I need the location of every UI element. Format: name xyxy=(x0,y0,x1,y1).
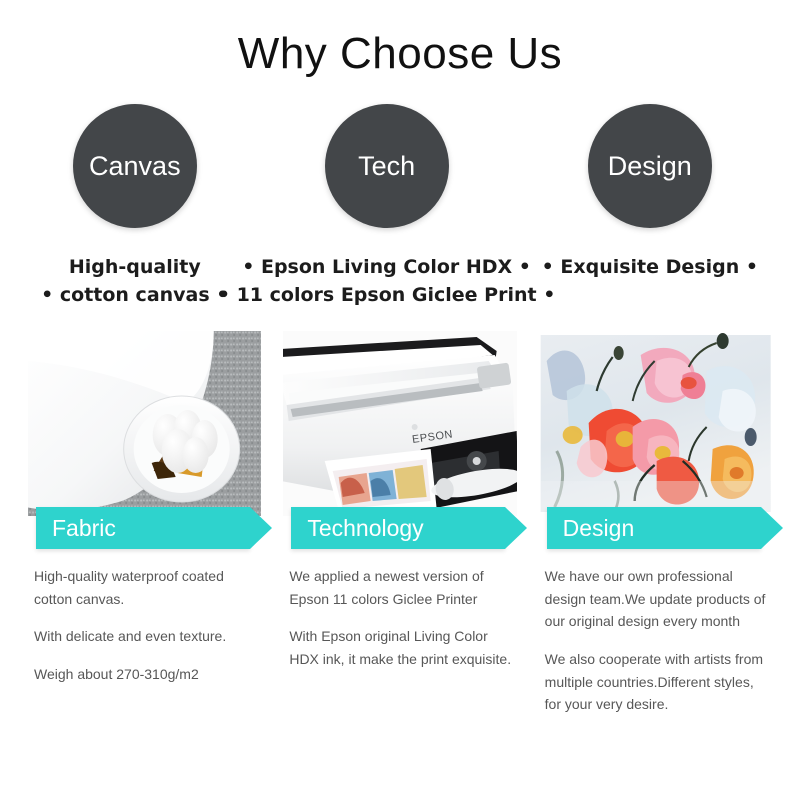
badge-caption-canvas: High-quality • cotton canvas • xyxy=(41,254,228,309)
feature-panel-fabric: Fabric High-quality waterproof coated co… xyxy=(28,331,261,716)
badge-caption-line: • Epson Living Color HDX • xyxy=(218,254,556,282)
badge-caption-line: High-quality xyxy=(41,254,228,282)
badge-circle-tech: Tech xyxy=(325,104,449,228)
technology-paragraph: With Epson original Living Color HDX ink… xyxy=(289,625,512,670)
badge-circle-canvas: Canvas xyxy=(73,104,197,228)
design-description: We have our own professional design team… xyxy=(539,549,772,716)
feature-panel-design: Design We have our own professional desi… xyxy=(539,331,772,716)
feature-panel-technology: EPSON Technology We applied a newest ver… xyxy=(283,331,516,716)
badge-column-tech: Tech • Epson Living Color HDX • • 11 col… xyxy=(242,104,532,309)
fabric-paragraph: High-quality waterproof coated cotton ca… xyxy=(34,565,257,610)
badge-circle-label: Tech xyxy=(358,153,415,180)
page-title: Why Choose Us xyxy=(0,0,800,76)
ribbon-label: Design xyxy=(547,517,635,540)
ribbon-label: Technology xyxy=(291,517,423,540)
badge-caption-design: • Exquisite Design • xyxy=(542,254,758,282)
technology-description: We applied a newest version of Epson 11 … xyxy=(283,549,516,671)
badge-circle-design: Design xyxy=(588,104,712,228)
printer-photo: EPSON xyxy=(283,331,516,516)
fabric-photo xyxy=(28,331,261,516)
fabric-paragraph: Weigh about 270-310g/m2 xyxy=(34,663,257,686)
design-paragraph: We also cooperate with artists from mult… xyxy=(545,648,768,716)
ribbon-technology: Technology xyxy=(291,507,505,549)
badge-column-design: Design • Exquisite Design • xyxy=(542,104,758,309)
artwork-photo xyxy=(539,331,772,516)
badge-caption-tech: • Epson Living Color HDX • • 11 colors E… xyxy=(218,254,556,309)
badge-circle-label: Canvas xyxy=(89,153,181,180)
feature-panel-row: Fabric High-quality waterproof coated co… xyxy=(0,309,800,716)
ribbon-design: Design xyxy=(547,507,761,549)
badge-caption-line: • cotton canvas • xyxy=(41,282,228,310)
ribbon-fabric: Fabric xyxy=(36,507,250,549)
fabric-paragraph: With delicate and even texture. xyxy=(34,625,257,648)
badge-caption-line: • 11 colors Epson Giclee Print • xyxy=(218,282,556,310)
fabric-description: High-quality waterproof coated cotton ca… xyxy=(28,549,261,686)
technology-paragraph: We applied a newest version of Epson 11 … xyxy=(289,565,512,610)
badge-circle-label: Design xyxy=(608,153,692,180)
badge-caption-line: • Exquisite Design • xyxy=(542,254,758,282)
badge-row: Canvas High-quality • cotton canvas • Te… xyxy=(0,76,800,309)
design-paragraph: We have our own professional design team… xyxy=(545,565,768,633)
badge-column-canvas: Canvas High-quality • cotton canvas • xyxy=(34,104,236,309)
ribbon-label: Fabric xyxy=(36,517,116,540)
